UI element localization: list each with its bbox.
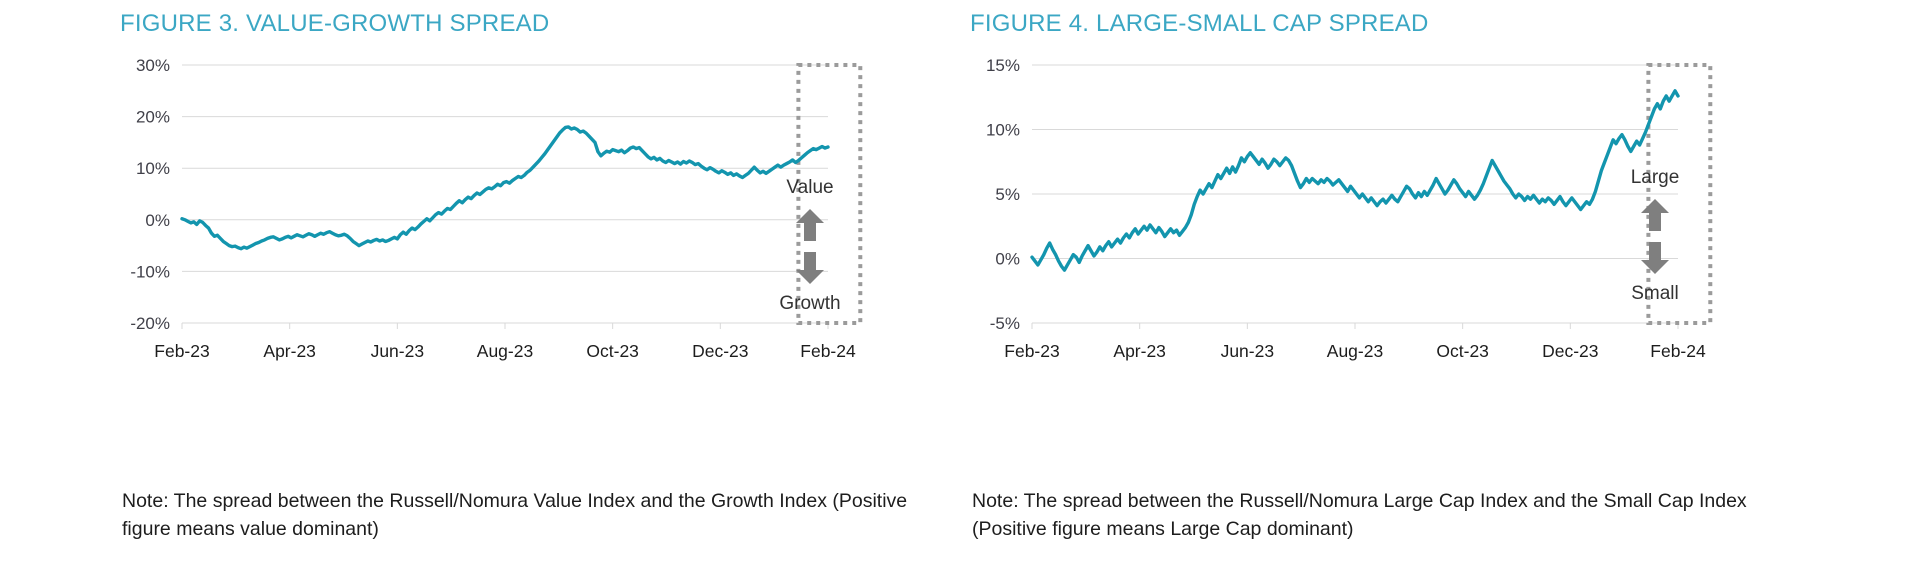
y-axis-tick-label: 20% [136, 108, 170, 127]
down-arrow-icon [795, 251, 825, 285]
y-axis-tick-label: -5% [990, 314, 1020, 333]
data-series-line [1032, 91, 1678, 270]
x-axis-tick-label: Jun-23 [371, 341, 425, 361]
x-axis-tick-label: Feb-23 [154, 341, 209, 361]
figure-4-note: Note: The spread between the Russell/Nom… [972, 488, 1762, 543]
down-arrow-icon [1640, 241, 1670, 275]
x-axis-tick-label: Oct-23 [586, 341, 639, 361]
y-axis-tick-label: 0% [995, 250, 1020, 269]
figure-4-up-label: Large [1595, 168, 1715, 189]
x-axis-tick-label: Dec-23 [1542, 341, 1598, 361]
x-axis-tick-label: Aug-23 [477, 341, 533, 361]
x-axis-tick-label: Feb-24 [800, 341, 856, 361]
up-arrow-icon [1640, 198, 1670, 232]
x-axis-tick-label: Aug-23 [1327, 341, 1383, 361]
y-axis-tick-label: 30% [136, 56, 170, 75]
x-axis-tick-label: Dec-23 [692, 341, 748, 361]
figure-3-panel: FIGURE 3. VALUE-GROWTH SPREAD 30%20%10%0… [110, 0, 970, 565]
data-series-line [182, 127, 828, 249]
x-axis-tick-label: Oct-23 [1436, 341, 1489, 361]
y-axis-tick-label: 10% [986, 121, 1020, 140]
figure-3-up-label: Value [750, 178, 870, 199]
figure-4-down-label: Small [1595, 284, 1715, 305]
figure-3-title: FIGURE 3. VALUE-GROWTH SPREAD [120, 10, 549, 38]
x-axis-tick-label: Feb-24 [1650, 341, 1706, 361]
y-axis-tick-label: 5% [995, 185, 1020, 204]
x-axis-tick-label: Apr-23 [263, 341, 316, 361]
figures-page: FIGURE 3. VALUE-GROWTH SPREAD 30%20%10%0… [0, 0, 1920, 565]
figure-4-title: FIGURE 4. LARGE-SMALL CAP SPREAD [970, 10, 1429, 38]
figure-3-direction-legend: Value Growth [750, 178, 870, 315]
y-axis-tick-label: 15% [986, 56, 1020, 75]
figure-3-down-label: Growth [750, 294, 870, 315]
y-axis-tick-label: -10% [130, 262, 170, 281]
y-axis-tick-label: 0% [145, 211, 170, 230]
y-axis-tick-label: -20% [130, 314, 170, 333]
x-axis-tick-label: Jun-23 [1221, 341, 1275, 361]
x-axis-tick-label: Apr-23 [1113, 341, 1166, 361]
figure-4-direction-legend: Large Small [1595, 168, 1715, 305]
figure-4-panel: FIGURE 4. LARGE-SMALL CAP SPREAD 15%10%5… [960, 0, 1820, 565]
up-arrow-icon [795, 208, 825, 242]
y-axis-tick-label: 10% [136, 159, 170, 178]
x-axis-tick-label: Feb-23 [1004, 341, 1059, 361]
figure-3-note: Note: The spread between the Russell/Nom… [122, 488, 912, 543]
